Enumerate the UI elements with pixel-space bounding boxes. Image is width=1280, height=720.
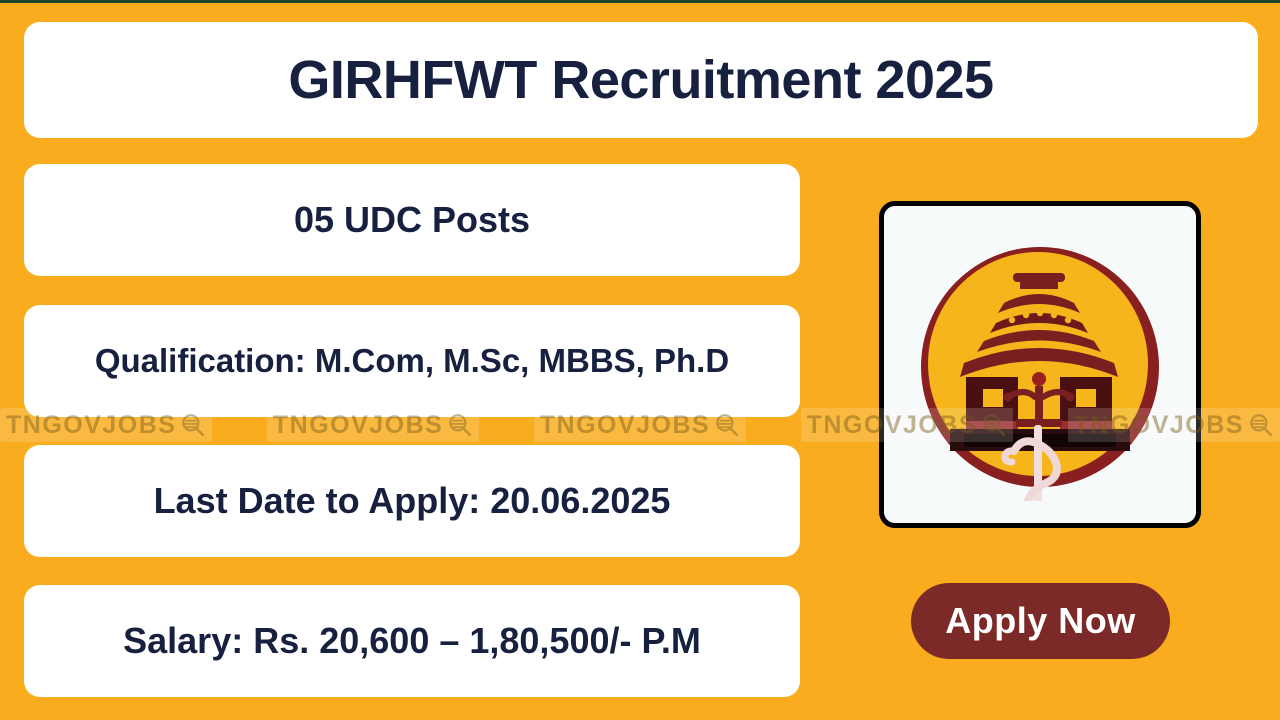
info-card-last-date: Last Date to Apply: 20.06.2025 [24,445,800,557]
last-date-label: Last Date to Apply: 20.06.2025 [144,482,681,520]
recruitment-poster: GIRHFWT Recruitment 2025 05 UDC Posts Qu… [0,0,1280,720]
organization-logo-box [879,201,1201,528]
info-card-qualification: Qualification: M.Com, M.Sc, MBBS, Ph.D [24,305,800,417]
page-title: GIRHFWT Recruitment 2025 [288,53,993,107]
apply-now-button[interactable]: Apply Now [911,583,1170,659]
info-card-posts: 05 UDC Posts [24,164,800,276]
top-accent-strip [0,0,1280,3]
magnifier-search-icon [1248,412,1274,438]
temple-caduceus-emblem-icon [904,229,1176,501]
salary-label: Salary: Rs. 20,600 – 1,80,500/- P.M [113,622,711,660]
posts-label: 05 UDC Posts [284,201,540,239]
qualification-label: Qualification: M.Com, M.Sc, MBBS, Ph.D [85,344,739,379]
info-card-salary: Salary: Rs. 20,600 – 1,80,500/- P.M [24,585,800,697]
title-card: GIRHFWT Recruitment 2025 [24,22,1258,138]
